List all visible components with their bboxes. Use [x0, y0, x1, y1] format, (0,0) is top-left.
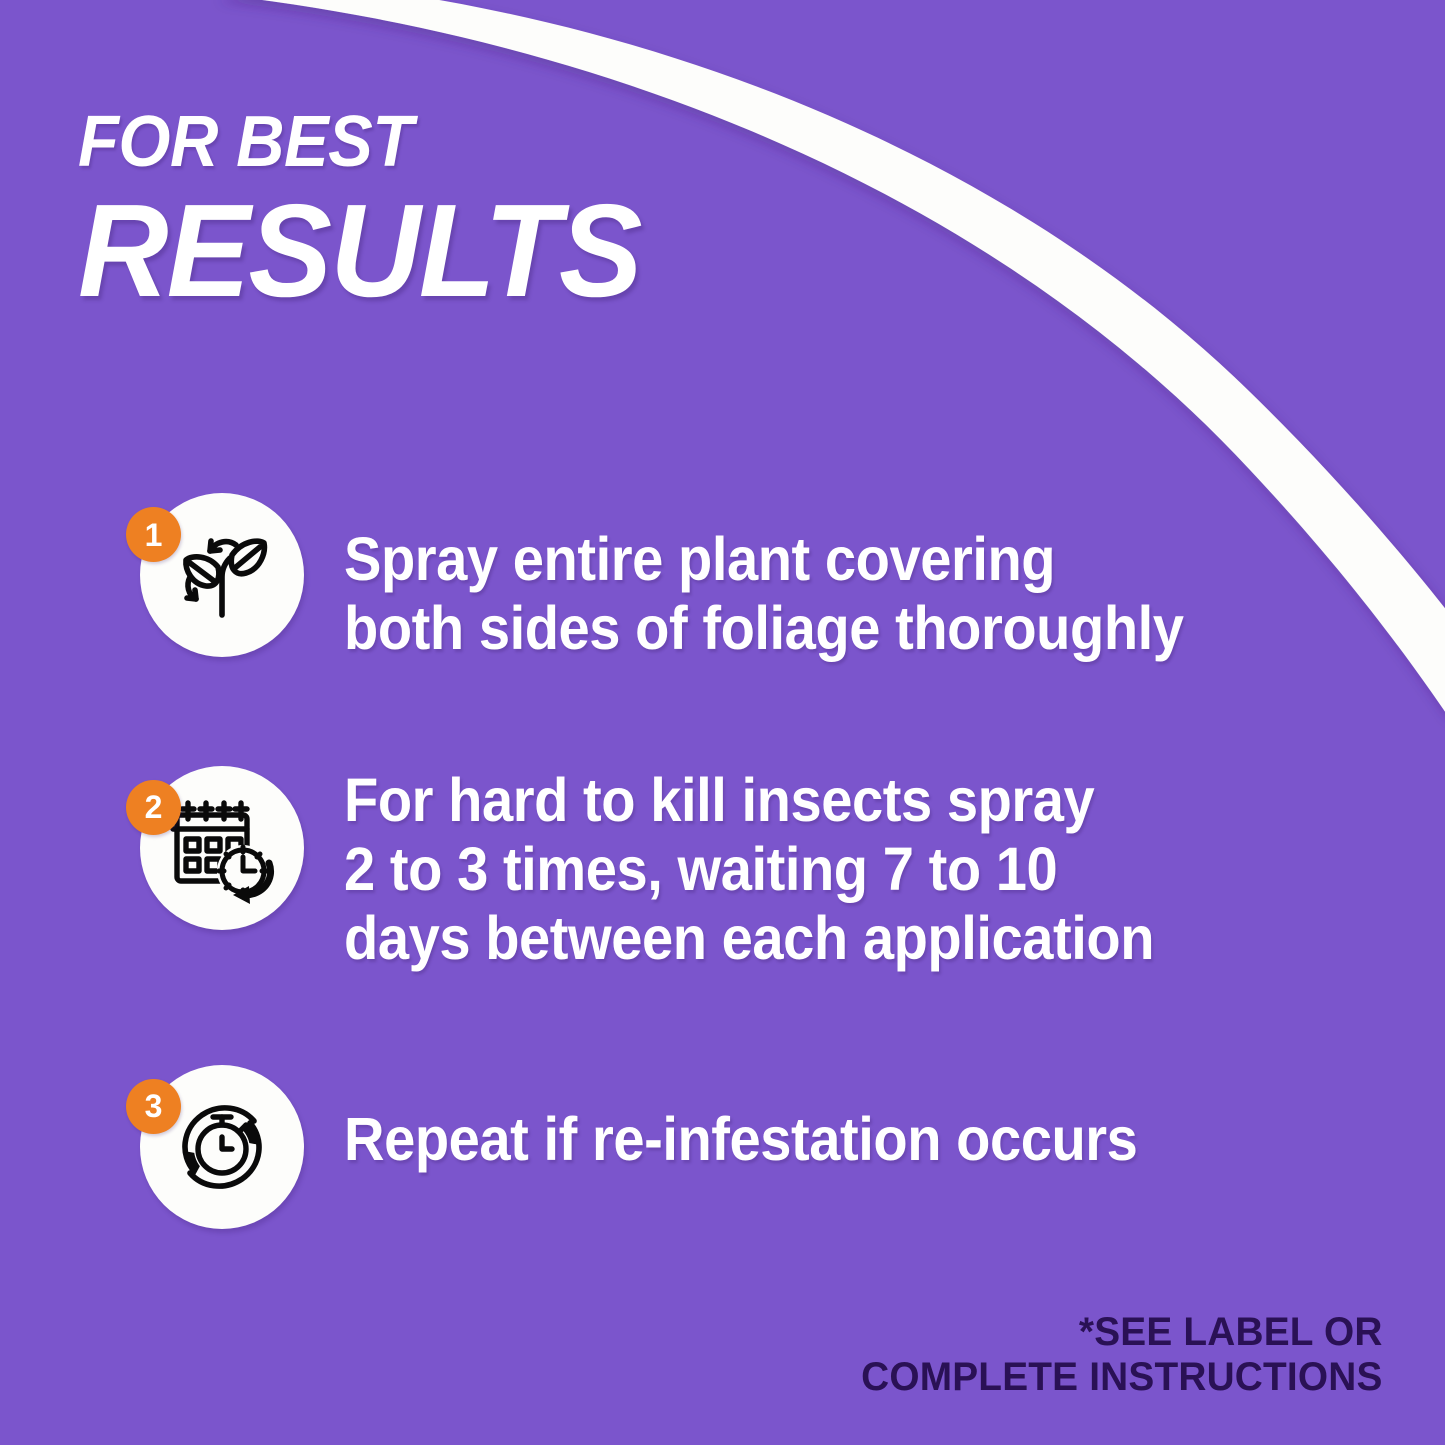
for-best-results-poster: FOR BEST RESULTS 1: [0, 0, 1445, 1445]
step-3-number-badge: 3: [126, 1079, 181, 1134]
step-1-text: Spray entire plant covering both sides o…: [344, 493, 1184, 663]
step-3-text: Repeat if re-infestation occurs: [344, 1065, 1137, 1174]
page-title-line-2: RESULTS: [78, 184, 933, 319]
step-2-icon-wrap: 2: [140, 766, 304, 930]
page-title: FOR BEST RESULTS: [78, 106, 978, 319]
step-item-1: 1: [0, 493, 1445, 663]
page-title-line-1: FOR BEST: [78, 106, 915, 178]
step-item-3: 3: [0, 1065, 1445, 1229]
step-1-icon-wrap: 1: [140, 493, 304, 657]
step-item-2: 2: [0, 766, 1445, 973]
step-2-number-badge: 2: [126, 780, 181, 835]
sprout-refresh-icon: [166, 519, 278, 631]
stopwatch-refresh-icon: [164, 1089, 280, 1205]
step-1-number-badge: 1: [126, 507, 181, 562]
step-2-text: For hard to kill insects spray 2 to 3 ti…: [344, 766, 1154, 973]
step-3-icon-wrap: 3: [140, 1065, 304, 1229]
steps-list: 1: [0, 493, 1445, 1229]
calendar-clock-icon: [165, 791, 279, 905]
footer-disclaimer: *SEE LABEL OR COMPLETE INSTRUCTIONS: [862, 1310, 1383, 1401]
